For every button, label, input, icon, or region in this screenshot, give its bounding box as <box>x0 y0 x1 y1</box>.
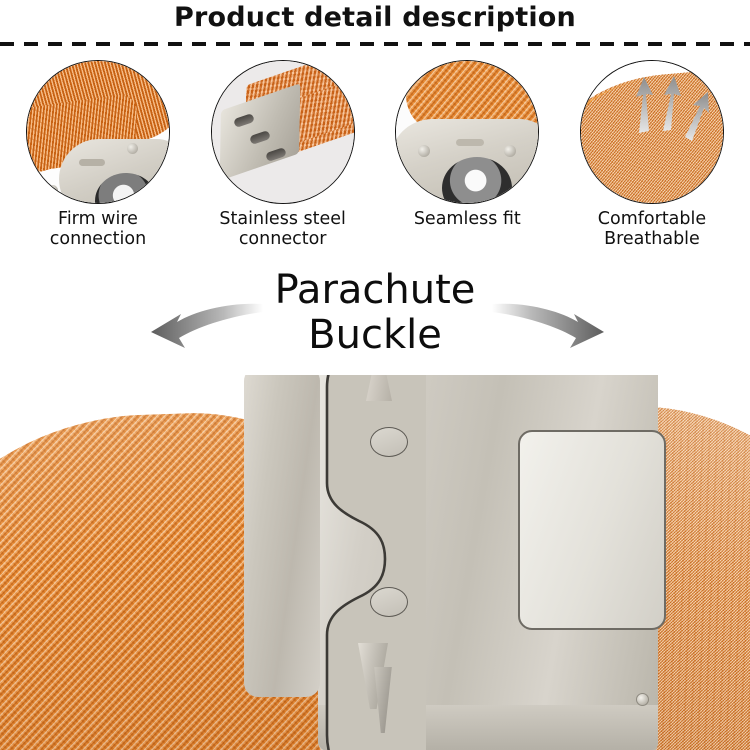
feature-caption: Stainless steel connector <box>219 209 345 250</box>
highlight-title-line2: Buckle <box>0 313 750 358</box>
curved-arrow-left-icon <box>145 298 265 358</box>
feature-thumb-comfortable-breathable <box>580 60 724 204</box>
buckle-hole-top <box>370 427 408 457</box>
feature-caption-line1: Stainless steel <box>219 209 345 229</box>
feature-caption: Firm wire connection <box>50 209 146 250</box>
highlight-title-line1: Parachute <box>0 268 750 313</box>
case-slot <box>79 159 105 166</box>
feature-caption: Comfortable Breathable <box>598 209 706 250</box>
curved-arrow-right-icon <box>490 298 610 358</box>
arrow-up-icon <box>636 76 709 141</box>
case-slot <box>456 139 484 146</box>
feature-caption: Seamless fit <box>414 209 521 229</box>
feature-caption-line2: connector <box>219 229 345 249</box>
airflow-arrows <box>581 61 723 203</box>
case-screw-icon <box>127 143 138 154</box>
highlight-title: Parachute Buckle <box>0 268 750 358</box>
case-screw-icon <box>47 185 58 196</box>
feature-list: Firm wire connection Stainless steel con… <box>0 60 750 250</box>
feature-caption-line1: Seamless fit <box>414 209 521 229</box>
buckle-hole-bottom <box>370 587 408 617</box>
feature-item-seamless-fit[interactable]: Seamless fit <box>377 60 557 250</box>
feature-item-firm-wire-connection[interactable]: Firm wire connection <box>8 60 188 250</box>
feature-thumb-stainless-steel-connector <box>211 60 355 204</box>
feature-caption-line2: Breathable <box>598 229 706 249</box>
feature-item-stainless-steel-connector[interactable]: Stainless steel connector <box>193 60 373 250</box>
feature-caption-line1: Firm wire <box>50 209 146 229</box>
product-detail-page: Product detail description Firm wire con… <box>0 0 750 750</box>
feature-thumb-seamless-fit <box>395 60 539 204</box>
header-divider <box>0 42 750 46</box>
feature-thumb-firm-wire-connection <box>26 60 170 204</box>
buckle-inner-panel <box>518 430 666 630</box>
page-title: Product detail description <box>0 2 750 33</box>
buckle-rivet-icon <box>636 693 649 706</box>
buckle-left-bar <box>244 375 320 697</box>
feature-caption-line2: connection <box>50 229 146 249</box>
feature-item-comfortable-breathable[interactable]: Comfortable Breathable <box>562 60 742 250</box>
feature-caption-line1: Comfortable <box>598 209 706 229</box>
product-photo <box>0 375 750 750</box>
